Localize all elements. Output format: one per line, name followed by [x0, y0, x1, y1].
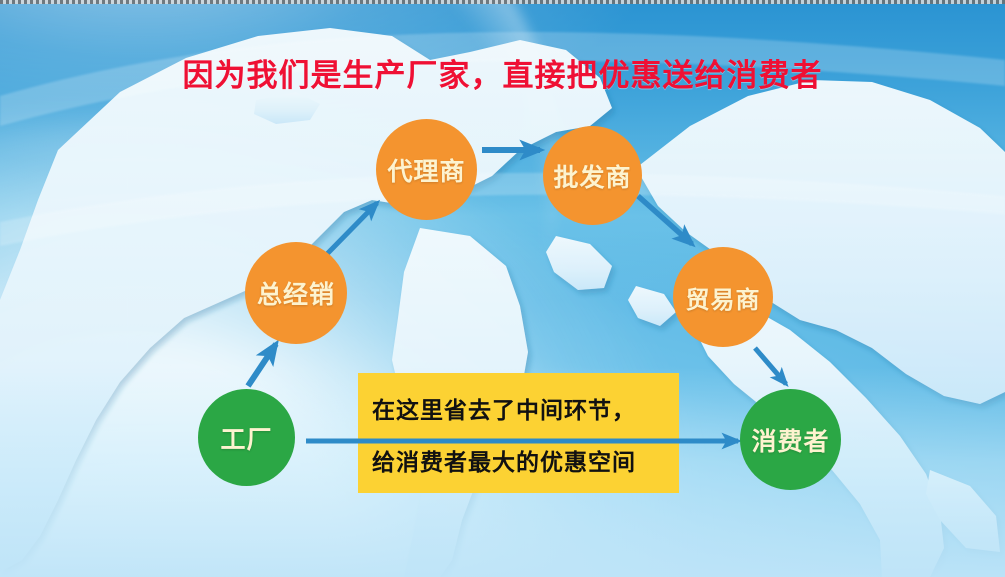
node-consumer[interactable]: 消费者 [740, 389, 841, 490]
node-trader[interactable]: 贸易商 [673, 247, 773, 347]
node-wholesaler[interactable]: 批发商 [543, 126, 642, 225]
node-factory[interactable]: 工厂 [198, 389, 295, 486]
node-general-distributor[interactable]: 总经销 [245, 242, 347, 344]
node-agent[interactable]: 代理商 [376, 119, 477, 220]
slide-canvas: 因为我们是生产厂家，直接把优惠送给消费者 [0, 0, 1005, 577]
direct-flow-arrow-layer [0, 0, 1005, 577]
